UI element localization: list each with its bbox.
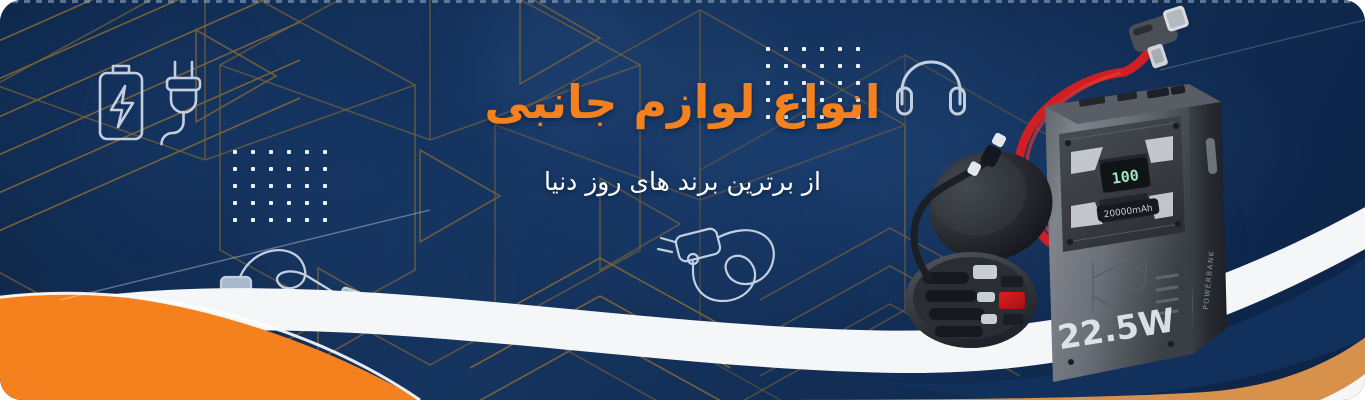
display-reading: 100: [1111, 166, 1140, 188]
product-image-group: 100 20000mAh: [975, 10, 1275, 400]
dashed-top-edge: [0, 0, 1365, 3]
promo-banner[interactable]: انواع لوازم جانبی از برترین برند های روز…: [0, 0, 1365, 400]
power-bank-body: 100 20000mAh: [1045, 84, 1227, 382]
memory-card: [999, 292, 1025, 309]
